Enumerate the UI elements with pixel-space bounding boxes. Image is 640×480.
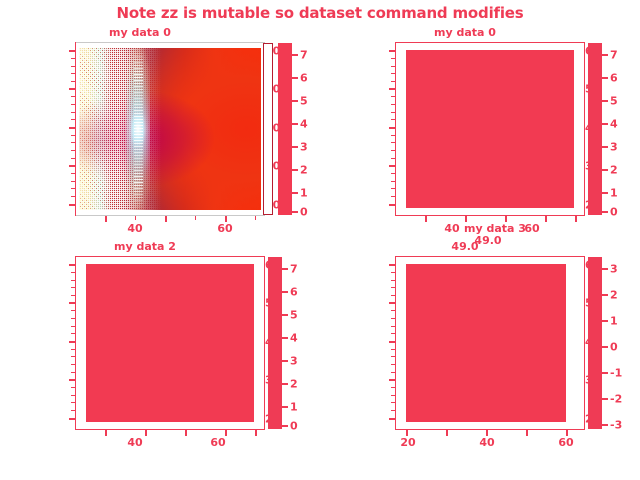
colorbar-tick-label: 0 — [610, 206, 618, 219]
y-tick-major — [389, 341, 395, 343]
x-tick-major — [425, 216, 427, 222]
y-tick-minor — [391, 280, 395, 281]
y-tick-minor — [71, 73, 75, 74]
heatmap-bottom-left — [86, 264, 254, 422]
colorbar-tick-label: 7 — [300, 49, 308, 62]
heatmap-dither-layer — [79, 48, 166, 210]
y-tick-minor — [391, 181, 395, 182]
colorbar-tick-label: 5 — [300, 95, 308, 108]
y-tick-minor — [391, 173, 395, 174]
y-tick-minor — [391, 410, 395, 411]
x-tick-minor — [255, 216, 256, 220]
colorbar-tick-major — [292, 123, 298, 125]
colorbar-tick-label: 4 — [300, 118, 308, 131]
y-tick-minor — [71, 333, 75, 334]
colorbar-tick-label: 2 — [290, 378, 298, 391]
y-tick-minor — [71, 181, 75, 182]
y-tick-major — [69, 418, 75, 420]
y-tick-minor — [71, 295, 75, 296]
colorbar-tick-major — [602, 192, 608, 194]
colorbar-outline-top-left[interactable] — [263, 43, 273, 215]
y-tick-minor — [71, 81, 75, 82]
y-tick-minor — [391, 310, 395, 311]
colorbar-tick-major — [602, 211, 608, 213]
y-tick-minor — [391, 81, 395, 82]
colorbar-tick-label: 7 — [610, 49, 618, 62]
x-tick-label: 40 — [127, 222, 142, 235]
y-tick-minor — [71, 372, 75, 373]
subplot-title-bottom-left: my data 2 — [0, 240, 290, 253]
y-tick-major — [69, 50, 75, 52]
y-tick-minor — [391, 104, 395, 105]
y-tick-minor — [391, 119, 395, 120]
y-tick-minor — [71, 287, 75, 288]
x-tick-label: 40 — [444, 222, 459, 235]
colorbar-tick-label: 2 — [610, 289, 618, 302]
y-tick-minor — [71, 272, 75, 273]
x-tick-label: 20 — [400, 436, 415, 449]
y-tick-minor — [71, 395, 75, 396]
y-tick-minor — [71, 196, 75, 197]
y-tick-minor — [391, 142, 395, 143]
y-tick-major — [69, 165, 75, 167]
colorbar-tick-label: 3 — [290, 355, 298, 368]
colorbar-tick-label: 6 — [610, 72, 618, 85]
figure-canvas: Note zz is mutable so dataset command mo… — [0, 0, 640, 480]
colorbar-tick-major — [602, 294, 608, 296]
y-tick-major — [389, 127, 395, 129]
y-tick-major — [389, 418, 395, 420]
y-tick-minor — [71, 280, 75, 281]
y-tick-minor — [391, 402, 395, 403]
y-tick-minor — [391, 158, 395, 159]
colorbar-tick-major — [282, 337, 288, 339]
y-tick-minor — [391, 272, 395, 273]
y-tick-minor — [391, 295, 395, 296]
subplot-bottom-right: 49.0 60 50 40 30 20 20 40 — [340, 240, 630, 445]
y-tick-major — [389, 165, 395, 167]
colorbar-tick-major — [292, 169, 298, 171]
x-tick-label: 60 — [217, 222, 232, 235]
x-tick-minor — [135, 216, 136, 220]
x-tick-major — [545, 216, 547, 222]
colorbar-tick-major — [602, 54, 608, 56]
heatmap-top-left — [79, 48, 261, 210]
y-tick-minor — [71, 326, 75, 327]
colorbar-tick-label: 3 — [610, 263, 618, 276]
y-tick-minor — [391, 196, 395, 197]
colorbar-tick-label: 0 — [290, 420, 298, 433]
x-tick-major — [185, 430, 187, 436]
colorbar-tick-major — [282, 291, 288, 293]
colorbar-tick-major — [602, 268, 608, 270]
y-tick-minor — [71, 356, 75, 357]
colorbar-tick-label: 0 — [610, 341, 618, 354]
colorbar-tick-major — [602, 169, 608, 171]
y-tick-major — [389, 204, 395, 206]
y-tick-minor — [71, 188, 75, 189]
colorbar-tick-label: -1 — [610, 367, 622, 380]
colorbar-tick-major — [292, 100, 298, 102]
y-tick-minor — [71, 96, 75, 97]
colorbar-tick-label: 2 — [300, 164, 308, 177]
y-tick-minor — [71, 158, 75, 159]
colorbar-tick-major — [282, 383, 288, 385]
colorbar-tick-major — [282, 406, 288, 408]
x-tick-label: 60 — [210, 436, 225, 449]
y-tick-minor — [71, 119, 75, 120]
y-tick-minor — [391, 287, 395, 288]
y-tick-minor — [71, 349, 75, 350]
colorbar-tick-major — [282, 425, 288, 427]
heatmap-spike-layer — [134, 48, 143, 210]
colorbar-tick-major — [602, 100, 608, 102]
x-tick-major — [105, 216, 107, 222]
y-tick-minor — [71, 364, 75, 365]
colorbar-top-right[interactable] — [588, 43, 602, 215]
y-tick-minor — [71, 310, 75, 311]
y-tick-minor — [391, 326, 395, 327]
colorbar-tick-major — [602, 320, 608, 322]
y-tick-minor — [391, 188, 395, 189]
y-tick-minor — [391, 58, 395, 59]
x-tick-major — [526, 430, 528, 436]
y-tick-minor — [391, 318, 395, 319]
colorbar-tick-label: 1 — [610, 315, 618, 328]
y-tick-minor — [391, 96, 395, 97]
colorbar-tick-label: 2 — [610, 164, 618, 177]
y-tick-major — [389, 379, 395, 381]
colorbar-tick-label: 4 — [290, 332, 298, 345]
x-tick-major — [145, 430, 147, 436]
y-tick-major — [69, 341, 75, 343]
y-tick-minor — [71, 66, 75, 67]
colorbar-tick-label: -3 — [610, 419, 622, 432]
x-tick-major — [165, 216, 167, 222]
colorbar-tick-label: 7 — [290, 263, 298, 276]
y-tick-minor — [71, 387, 75, 388]
y-tick-minor — [391, 150, 395, 151]
y-tick-major — [389, 264, 395, 266]
colorbar-bottom-right[interactable] — [588, 257, 602, 429]
heatmap-image — [79, 48, 261, 210]
colorbar-tick-label: 1 — [610, 187, 618, 200]
colorbar-tick-major — [602, 123, 608, 125]
colorbar-tick-major — [292, 54, 298, 56]
x-tick-minor — [195, 216, 196, 220]
colorbar-tick-major — [602, 398, 608, 400]
x-tick-major — [446, 430, 448, 436]
subplot-title-bottom-right: 49.0 — [320, 240, 610, 253]
colorbar-tick-label: -2 — [610, 393, 622, 406]
x-tick-major — [575, 216, 577, 222]
colorbar-tick-label: 5 — [610, 95, 618, 108]
y-tick-minor — [71, 410, 75, 411]
y-tick-major — [389, 50, 395, 52]
y-tick-major — [69, 88, 75, 90]
colorbar-tick-major — [602, 146, 608, 148]
heatmap-top-right — [406, 50, 574, 208]
y-tick-minor — [391, 66, 395, 67]
y-tick-minor — [71, 173, 75, 174]
y-tick-minor — [391, 364, 395, 365]
colorbar-tick-label: 5 — [290, 309, 298, 322]
colorbar-tick-major — [292, 211, 298, 213]
y-tick-minor — [71, 135, 75, 136]
y-tick-minor — [71, 104, 75, 105]
colorbar-tick-major — [282, 268, 288, 270]
colorbar-bottom-left[interactable] — [268, 257, 282, 429]
y-tick-major — [69, 302, 75, 304]
colorbar-tick-major — [602, 372, 608, 374]
subplot-top-right: my data 0 60 50 40 30 20 40 6 — [340, 26, 630, 231]
y-tick-major — [69, 264, 75, 266]
colorbar-tick-label: 4 — [610, 118, 618, 131]
subplot-title-top-right: my data 0 — [320, 26, 610, 39]
subplot-title-top-left: my data 0 — [0, 26, 285, 39]
colorbar-tick-major — [602, 77, 608, 79]
figure-suptitle: Note zz is mutable so dataset command mo… — [0, 4, 640, 22]
y-tick-minor — [391, 333, 395, 334]
y-tick-major — [69, 204, 75, 206]
y-tick-minor — [391, 73, 395, 74]
colorbar-tick-label: 3 — [300, 141, 308, 154]
colorbar-tick-label: 6 — [300, 72, 308, 85]
y-tick-major — [389, 302, 395, 304]
y-tick-minor — [391, 135, 395, 136]
y-tick-minor — [71, 318, 75, 319]
colorbar-top-left[interactable] — [278, 43, 292, 215]
y-tick-minor — [391, 356, 395, 357]
subplot-bottom-left: my data 2 60 50 40 30 20 40 6 — [20, 240, 310, 445]
y-tick-major — [69, 379, 75, 381]
colorbar-tick-major — [292, 77, 298, 79]
y-tick-minor — [391, 349, 395, 350]
colorbar-tick-label: 0 — [300, 206, 308, 219]
y-tick-major — [69, 127, 75, 129]
colorbar-tick-major — [602, 424, 608, 426]
subplot-top-left: my data 0 60 — [20, 26, 310, 231]
colorbar-tick-label: 3 — [610, 141, 618, 154]
colorbar-tick-major — [292, 146, 298, 148]
y-tick-minor — [391, 395, 395, 396]
colorbar-tick-major — [602, 346, 608, 348]
y-tick-minor — [71, 112, 75, 113]
y-tick-minor — [71, 150, 75, 151]
heatmap-bottom-right — [406, 264, 566, 422]
colorbar-tick-major — [282, 314, 288, 316]
colorbar-tick-label: 1 — [290, 401, 298, 414]
y-tick-minor — [391, 387, 395, 388]
y-tick-minor — [71, 58, 75, 59]
y-tick-minor — [71, 402, 75, 403]
colorbar-tick-label: 6 — [290, 286, 298, 299]
x-tick-major — [255, 430, 257, 436]
y-tick-minor — [391, 372, 395, 373]
y-tick-major — [389, 88, 395, 90]
x-tick-label: 60 — [524, 222, 539, 235]
colorbar-tick-label: 1 — [300, 187, 308, 200]
colorbar-tick-major — [282, 360, 288, 362]
x-tick-label: 40 — [127, 436, 142, 449]
y-tick-minor — [391, 112, 395, 113]
y-axis-line-top-left — [75, 42, 76, 216]
x-tick-major — [105, 430, 107, 436]
colorbar-tick-major — [292, 192, 298, 194]
y-tick-minor — [71, 142, 75, 143]
x-tick-label: 60 — [558, 436, 573, 449]
x-tick-label: 40 — [479, 436, 494, 449]
